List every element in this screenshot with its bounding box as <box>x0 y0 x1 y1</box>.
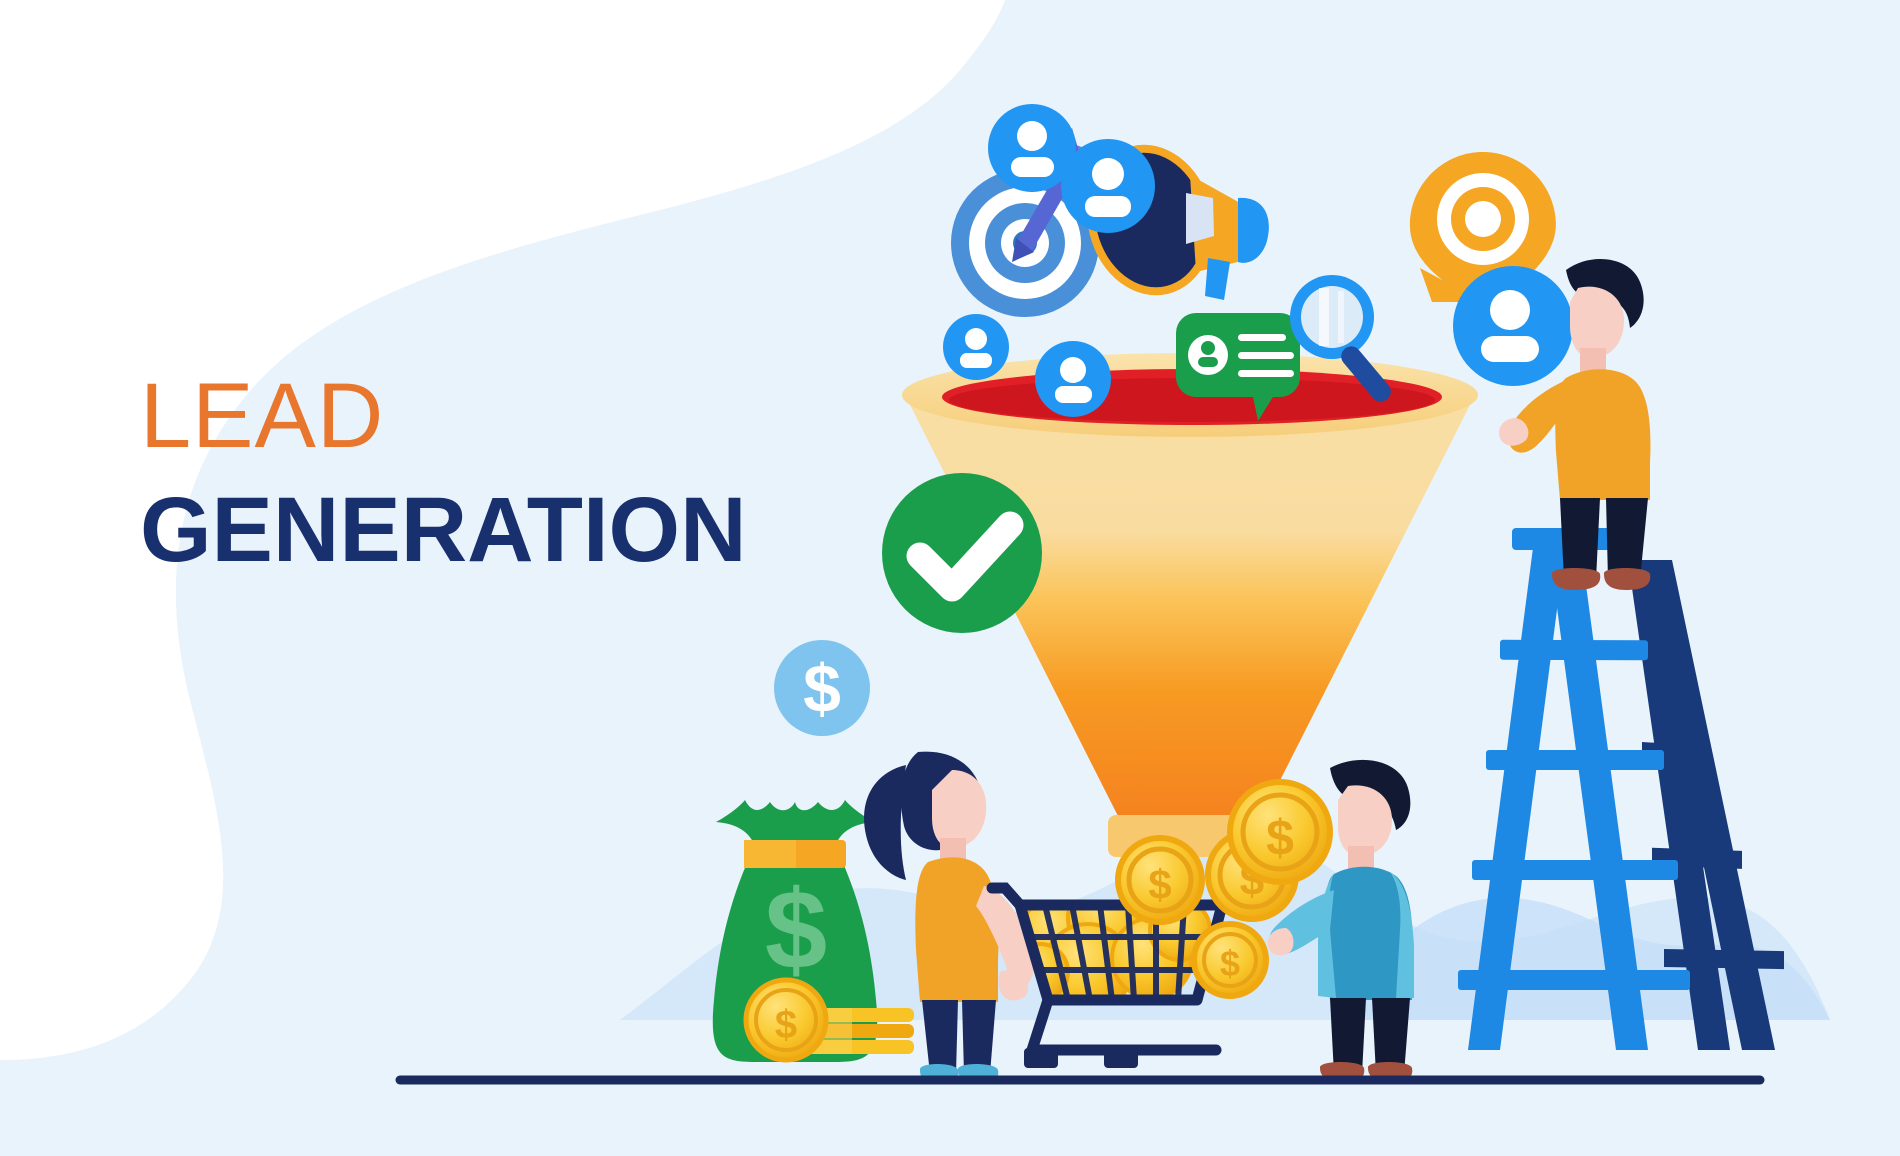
headline-block: LEAD GENERATION <box>140 370 840 576</box>
headline-line-generation: GENERATION <box>140 484 840 576</box>
dollar-circle-icon: $ <box>774 640 870 736</box>
gold-coin: $ <box>1118 838 1202 922</box>
user-avatar-icon <box>1035 341 1111 417</box>
headline-line-lead: LEAD <box>140 370 840 462</box>
svg-text:$: $ <box>1148 861 1171 908</box>
svg-text:$: $ <box>1220 943 1240 984</box>
illustration-canvas: $ $ $ <box>0 0 1900 1156</box>
gold-coin: $ <box>1194 924 1266 996</box>
user-avatar-icon <box>1453 266 1573 386</box>
svg-text:$: $ <box>803 651 841 727</box>
svg-text:$: $ <box>1266 810 1294 866</box>
svg-text:$: $ <box>765 867 827 992</box>
svg-text:$: $ <box>775 1003 797 1047</box>
user-avatar-icon <box>943 314 1009 380</box>
gold-coin: $ <box>1230 782 1330 882</box>
check-circle-icon <box>882 473 1042 633</box>
user-avatar-icon <box>1061 139 1155 233</box>
